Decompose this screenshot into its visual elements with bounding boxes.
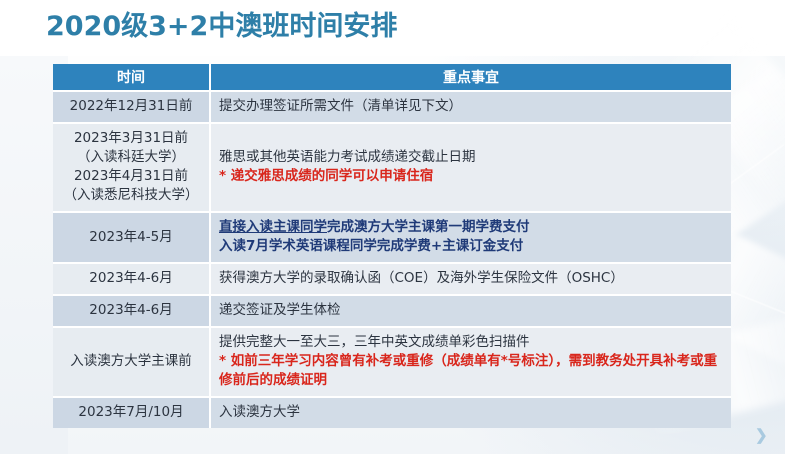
table-header-row: 时间 重点事宜 [53,64,731,92]
cell-matter: 获得澳方大学的录取确认函（COE）及海外学生保险文件（OSHC） [211,264,731,296]
matter-line-emphasis: * 如前三年学习内容曾有补考或重修（成绩单有*号标注），需到教务处开具补考或重修… [219,353,717,388]
cell-time: 2023年4-6月 [53,264,211,296]
page-title: 2020级3+2中澳班时间安排 [46,10,397,44]
table-body: 2022年12月31日前提交办理签证所需文件（清单详见下文）2023年3月31日… [53,92,731,428]
table-row: 2023年7月/10月入读澳方大学 [53,398,731,428]
slide-canvas: ❯ 2020级3+2中澳班时间安排 时间 重点事宜 2022年12月31日前提交… [0,0,785,454]
cell-matter: 提交办理签证所需文件（清单详见下文） [211,92,731,124]
cell-time: 入读澳方大学主课前 [53,328,211,398]
cell-time: 2023年3月31日前 （入读科廷大学） 2023年4月31日前 （入读悉尼科技… [53,124,211,213]
cell-time: 2023年7月/10月 [53,398,211,428]
matter-line: 雅思或其他英语能力考试成绩递交截止日期 [219,148,723,167]
table-row: 2023年4-5月直接入读主课同学完成澳方大学主课第一期学费支付入读7月学术英语… [53,213,731,264]
cell-time: 2023年4-6月 [53,296,211,328]
cell-matter: 递交签证及学生体检 [211,296,731,328]
matter-line: 获得澳方大学的录取确认函（COE）及海外学生保险文件（OSHC） [219,269,723,288]
matter-line: 入读澳方大学 [219,403,723,422]
matter-line: 直接入读主课同学完成澳方大学主课第一期学费支付 [219,218,723,237]
matter-line: 递交签证及学生体检 [219,301,723,320]
cell-matter: 雅思或其他英语能力考试成绩递交截止日期* 递交雅思成绩的同学可以申请住宿 [211,124,731,213]
table-row: 入读澳方大学主课前提供完整大一至大三，三年中英文成绩单彩色扫描件* 如前三年学习… [53,328,731,398]
matter-line: 入读7月学术英语课程同学完成学费+主课订金支付 [219,237,723,256]
table-row: 2023年4-6月递交签证及学生体检 [53,296,731,328]
matter-line: * 递交雅思成绩的同学可以申请住宿 [219,167,723,186]
matter-line: 提供完整大一至大三，三年中英文成绩单彩色扫描件 [219,333,723,352]
table-row: 2023年4-6月获得澳方大学的录取确认函（COE）及海外学生保险文件（OSHC… [53,264,731,296]
matter-line: 提交办理签证所需文件（清单详见下文） [219,97,723,116]
matter-line-emphasis: 直接入读主课同学 [219,219,327,235]
column-header-time: 时间 [53,64,211,92]
table-row: 2022年12月31日前提交办理签证所需文件（清单详见下文） [53,92,731,124]
schedule-table-container: 时间 重点事宜 2022年12月31日前提交办理签证所需文件（清单详见下文）20… [53,64,731,428]
cell-matter: 提供完整大一至大三，三年中英文成绩单彩色扫描件* 如前三年学习内容曾有补考或重修… [211,328,731,398]
matter-line: * 如前三年学习内容曾有补考或重修（成绩单有*号标注），需到教务处开具补考或重修… [219,352,723,390]
cell-time: 2022年12月31日前 [53,92,211,124]
table-header: 时间 重点事宜 [53,64,731,92]
column-header-matter: 重点事宜 [211,64,731,92]
schedule-table: 时间 重点事宜 2022年12月31日前提交办理签证所需文件（清单详见下文）20… [53,64,731,428]
cell-matter: 直接入读主课同学完成澳方大学主课第一期学费支付入读7月学术英语课程同学完成学费+… [211,213,731,264]
table-row: 2023年3月31日前 （入读科廷大学） 2023年4月31日前 （入读悉尼科技… [53,124,731,213]
cell-time: 2023年4-5月 [53,213,211,264]
matter-line-tail: 完成学费+主课订金支付 [377,238,523,254]
matter-line-emphasis: * 递交雅思成绩的同学可以申请住宿 [219,168,433,184]
matter-line-tail: 完成澳方大学主课第一期学费支付 [327,219,530,235]
chevron-right-icon: ❯ [755,428,768,443]
cell-matter: 入读澳方大学 [211,398,731,428]
matter-line-emphasis: 入读7月学术英语课程同学 [219,238,377,254]
